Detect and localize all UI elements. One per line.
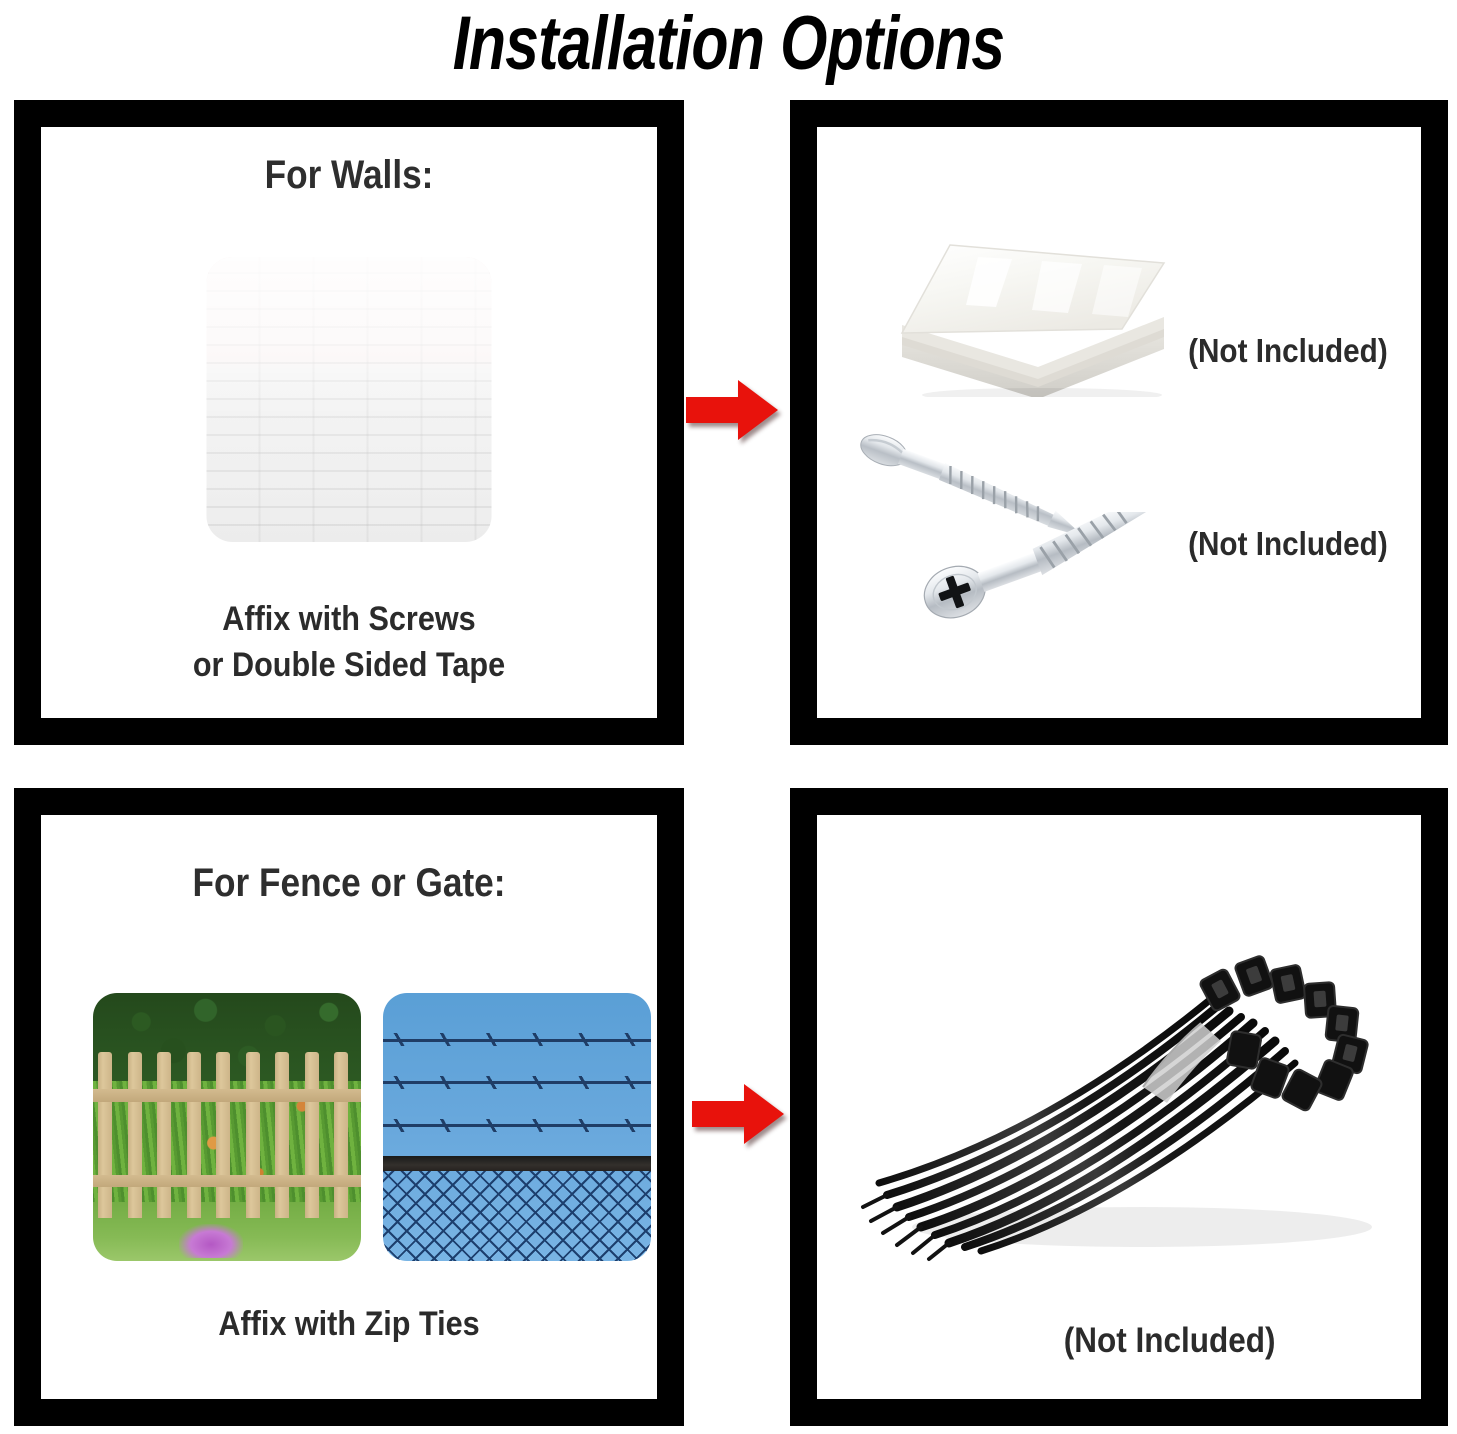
- panel-for-fence-or-gate: For Fence or Gate:: [14, 788, 684, 1426]
- brick-whitewash-overlay: [207, 257, 492, 542]
- picket: [275, 1052, 289, 1218]
- panel-for-fence-or-gate-inner: For Fence or Gate:: [41, 815, 657, 1399]
- picket: [157, 1052, 171, 1218]
- picket: [216, 1052, 230, 1218]
- double-sided-tape-stack-icon: [892, 237, 1178, 397]
- panel-for-walls: For Walls: Affix with Screws or Double S…: [14, 100, 684, 745]
- fence-top-rail: [383, 1156, 651, 1171]
- barbed-wire-chain-link-fence-photo: [383, 993, 651, 1261]
- barbed-wire-strand: [383, 1039, 651, 1042]
- for-walls-heading: For Walls:: [78, 153, 620, 198]
- picket: [305, 1052, 319, 1218]
- picket: [98, 1052, 112, 1218]
- barbed-wire-strand: [383, 1081, 651, 1084]
- black-zip-ties-bundle-icon: [857, 855, 1421, 1265]
- picket: [246, 1052, 260, 1218]
- panel-wall-hardware-inner: (Not Included): [817, 127, 1421, 718]
- panel-for-walls-inner: For Walls: Affix with Screws or Double S…: [41, 127, 657, 718]
- for-walls-caption-line2: or Double Sided Tape: [72, 642, 626, 688]
- picket-group: [93, 993, 361, 1261]
- chain-link-mesh: [383, 1171, 651, 1261]
- for-fence-heading: For Fence or Gate:: [78, 861, 620, 906]
- for-fence-caption-line1: Affix with Zip Ties: [72, 1301, 626, 1347]
- page-title: Installation Options: [146, 0, 1312, 92]
- red-right-arrow-icon: [692, 1082, 784, 1146]
- for-walls-caption: Affix with Screws or Double Sided Tape: [72, 596, 626, 688]
- barbed-wire-strand: [383, 1124, 651, 1127]
- fence-rail-top: [93, 1089, 361, 1101]
- for-walls-caption-line1: Affix with Screws: [72, 596, 626, 642]
- ziptie-not-included-label: (Not Included): [1064, 1321, 1276, 1361]
- tape-not-included-label: (Not Included): [1188, 332, 1388, 370]
- panel-fence-hardware-inner: (Not Included): [817, 815, 1421, 1399]
- panel-wall-hardware: (Not Included): [790, 100, 1448, 745]
- screw-not-included-label: (Not Included): [1188, 525, 1388, 563]
- for-fence-caption: Affix with Zip Ties: [72, 1301, 626, 1347]
- fence-rail-bottom: [93, 1175, 361, 1187]
- wooden-picket-fence-photo: [93, 993, 361, 1261]
- picket: [334, 1052, 348, 1218]
- picket: [187, 1052, 201, 1218]
- white-brick-wall-photo: [207, 257, 492, 542]
- picket: [128, 1052, 142, 1218]
- wood-screw-phillips-icon: [922, 512, 1187, 622]
- panel-fence-hardware: (Not Included): [790, 788, 1448, 1426]
- red-right-arrow-icon: [686, 378, 778, 442]
